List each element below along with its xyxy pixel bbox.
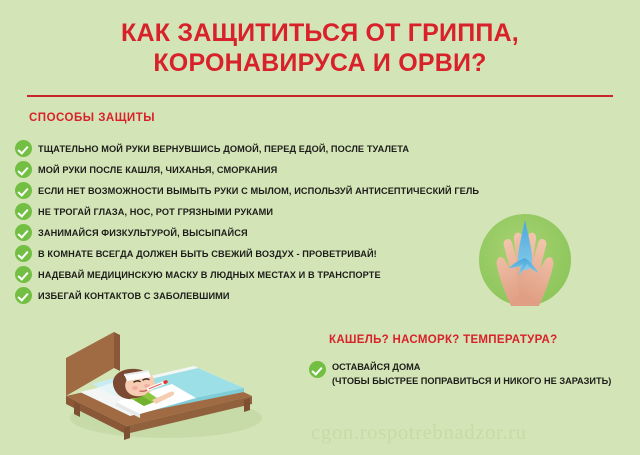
check-circle-icon: [15, 203, 32, 220]
list-item: НАДЕВАЙ МЕДИЦИНСКУЮ МАСКУ В ЛЮДНЫХ МЕСТА…: [15, 264, 485, 285]
page-title: КАК ЗАЩИТИТЬСЯ ОТ ГРИППА, КОРОНАВИРУСА И…: [0, 18, 640, 78]
symptoms-heading: КАШЕЛЬ? НАСМОРК? ТЕМПЕРАТУРА?: [329, 334, 558, 346]
advice-main-label: ОСТАВАЙСЯ ДОМА: [332, 360, 611, 374]
check-circle-icon: [15, 287, 32, 304]
list-item: МОЙ РУКИ ПОСЛЕ КАШЛЯ, ЧИХАНЬЯ, СМОРКАНИЯ: [15, 159, 485, 180]
check-circle-icon: [15, 266, 32, 283]
list-item-label: В КОМНАТЕ ВСЕГДА ДОЛЖЕН БЫТЬ СВЕЖИЙ ВОЗД…: [38, 249, 377, 259]
list-item: В КОМНАТЕ ВСЕГДА ДОЛЖЕН БЫТЬ СВЕЖИЙ ВОЗД…: [15, 243, 485, 264]
protection-checklist: ТЩАТЕЛЬНО МОЙ РУКИ ВЕРНУВШИСЬ ДОМОЙ, ПЕР…: [15, 138, 485, 306]
check-circle-icon: [309, 361, 326, 378]
list-item: ЕСЛИ НЕТ ВОЗМОЖНОСТИ ВЫМЫТЬ РУКИ С МЫЛОМ…: [15, 180, 485, 201]
title-line-1: КАК ЗАЩИТИТЬСЯ ОТ ГРИППА,: [0, 18, 640, 48]
list-item-label: НЕ ТРОГАЙ ГЛАЗА, НОС, РОТ ГРЯЗНЫМИ РУКАМ…: [38, 207, 273, 217]
title-line-2: КОРОНАВИРУСА И ОРВИ?: [0, 48, 640, 78]
infographic-poster: КАК ЗАЩИТИТЬСЯ ОТ ГРИППА, КОРОНАВИРУСА И…: [0, 0, 640, 455]
check-circle-icon: [15, 182, 32, 199]
watermark: cgon.rospotrebnadzor.ru: [311, 420, 527, 445]
check-circle-icon: [15, 161, 32, 178]
list-item-label: ИЗБЕГАЙ КОНТАКТОВ С ЗАБОЛЕВШИМИ: [38, 291, 230, 301]
list-item-label: ЗАНИМАЙСЯ ФИЗКУЛЬТУРОЙ, ВЫСЫПАЙСЯ: [38, 228, 248, 238]
title-divider: [27, 95, 613, 97]
sick-person-in-bed-icon: [48, 322, 274, 442]
list-item-label: ЕСЛИ НЕТ ВОЗМОЖНОСТИ ВЫМЫТЬ РУКИ С МЫЛОМ…: [38, 186, 479, 196]
stay-home-advice: ОСТАВАЙСЯ ДОМА (ЧТОБЫ БЫСТРЕЕ ПОПРАВИТЬС…: [309, 360, 611, 388]
hands-washing-icon: [473, 208, 577, 312]
list-item: ИЗБЕГАЙ КОНТАКТОВ С ЗАБОЛЕВШИМИ: [15, 285, 485, 306]
list-item-label: МОЙ РУКИ ПОСЛЕ КАШЛЯ, ЧИХАНЬЯ, СМОРКАНИЯ: [38, 165, 277, 175]
check-circle-icon: [15, 224, 32, 241]
protection-heading: СПОСОБЫ ЗАЩИТЫ: [29, 112, 155, 124]
check-circle-icon: [15, 245, 32, 262]
list-item-label: ТЩАТЕЛЬНО МОЙ РУКИ ВЕРНУВШИСЬ ДОМОЙ, ПЕР…: [38, 144, 409, 154]
check-circle-icon: [15, 140, 32, 157]
list-item: ТЩАТЕЛЬНО МОЙ РУКИ ВЕРНУВШИСЬ ДОМОЙ, ПЕР…: [15, 138, 485, 159]
list-item: НЕ ТРОГАЙ ГЛАЗА, НОС, РОТ ГРЯЗНЫМИ РУКАМ…: [15, 201, 485, 222]
advice-note-label: (ЧТОБЫ БЫСТРЕЕ ПОПРАВИТЬСЯ И НИКОГО НЕ З…: [332, 374, 611, 388]
list-item-label: НАДЕВАЙ МЕДИЦИНСКУЮ МАСКУ В ЛЮДНЫХ МЕСТА…: [38, 270, 381, 280]
list-item: ЗАНИМАЙСЯ ФИЗКУЛЬТУРОЙ, ВЫСЫПАЙСЯ: [15, 222, 485, 243]
